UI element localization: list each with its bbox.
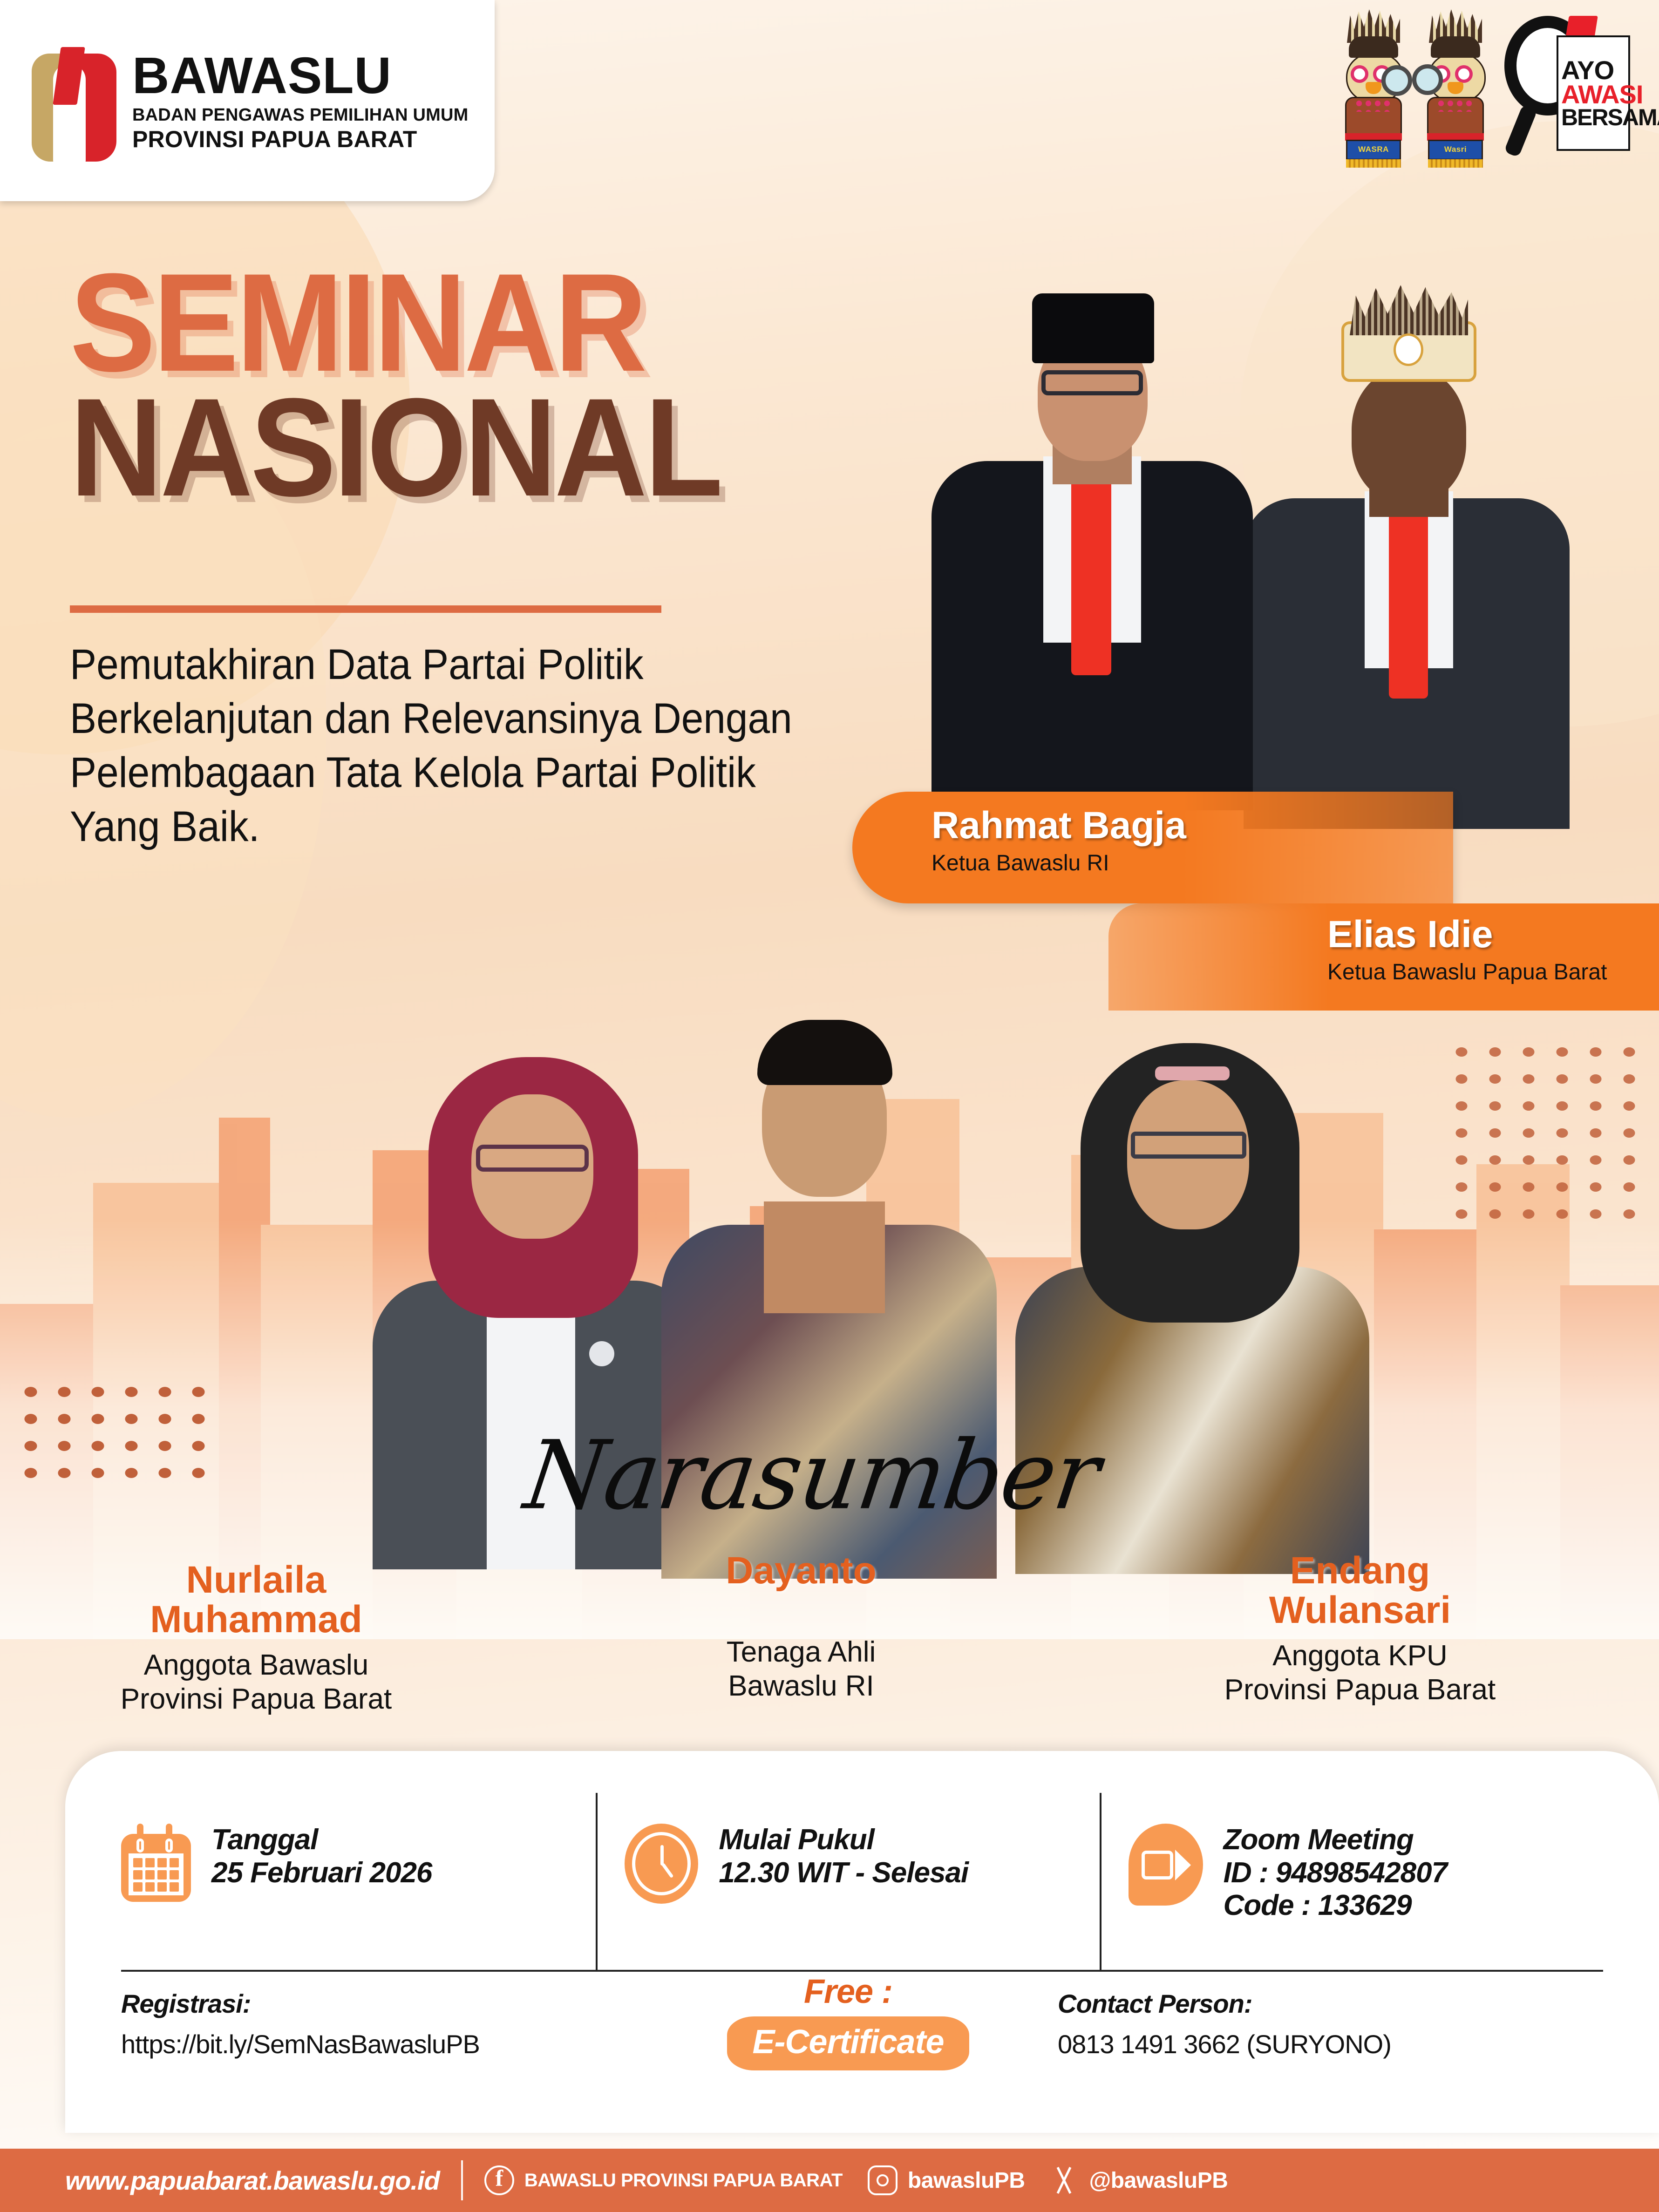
- speaker-2-title-line-2: Provinsi Papua Barat: [1164, 1673, 1556, 1707]
- footer-twitter[interactable]: @bawasluPB: [1050, 2166, 1228, 2195]
- info-cell-zoom: Zoom Meeting ID : 94898542807 Code : 133…: [1100, 1793, 1603, 1970]
- photo-rahmat-bagja: [913, 261, 1267, 810]
- campaign-line-3: BERSAMA: [1561, 107, 1625, 128]
- ayo-awasi-bersama-logo: AYO AWASI BERSAMA: [1504, 9, 1630, 158]
- speaker-1-name-line-1: Dayanto: [624, 1551, 978, 1590]
- mascot-bird-wasra-icon: WASRA: [1339, 9, 1408, 168]
- video-camera-icon: [1129, 1824, 1203, 1906]
- caption-endang-wulansari: Endang Wulansari Anggota KPU Provinsi Pa…: [1164, 1551, 1556, 1707]
- footer-instagram-label: bawasluPB: [908, 2168, 1025, 2193]
- mascot-wasra-label: WASRA: [1347, 145, 1400, 154]
- narasumber-heading: Narasumber: [518, 1420, 1105, 1531]
- info-cell-time: Mulai Pukul 12.30 WIT - Selesai: [596, 1793, 1099, 1970]
- campaign-line-2: AWASI: [1561, 82, 1625, 107]
- calendar-icon: [121, 1824, 191, 1902]
- keynote-name-1: Elias Idie: [1327, 916, 1659, 954]
- contact-value[interactable]: 0813 1491 3662 (SURYONO): [1058, 2029, 1603, 2059]
- bawaslu-logo-icon: [29, 38, 116, 163]
- logo-subtitle-2: PROVINSI PAPUA BARAT: [132, 128, 468, 151]
- facebook-icon: [484, 2165, 514, 2195]
- mascot-bird-wasri-icon: Wasri: [1421, 9, 1490, 168]
- free-certificate-block: Free : E-Certificate: [666, 1973, 1030, 2070]
- badge-rahmat-bagja: Rahmat Bagja Ketua Bawaslu RI: [852, 792, 1453, 903]
- speaker-0-name-line-1: Nurlaila: [79, 1560, 433, 1600]
- badge-elias-idie: Elias Idie Ketua Bawaslu Papua Barat: [1108, 903, 1659, 1011]
- footer-divider: [461, 2160, 463, 2200]
- event-info-card: Tanggal 25 Februari 2026 Mulai Pukul 12.…: [65, 1751, 1659, 2133]
- poster-footer: www.papuabarat.bawaslu.go.id BAWASLU PRO…: [0, 2149, 1659, 2212]
- contact-block: Contact Person: 0813 1491 3662 (SURYONO): [1030, 1988, 1603, 2059]
- clock-icon: [625, 1824, 698, 1904]
- bawaslu-logo-plate: BAWASLU BADAN PENGAWAS PEMILIHAN UMUM PR…: [0, 0, 495, 201]
- date-value: 25 Februari 2026: [211, 1857, 432, 1890]
- caption-dayanto: Dayanto Tenaga Ahli Bawaslu RI: [624, 1551, 978, 1703]
- keynote-title-1: Ketua Bawaslu Papua Barat: [1327, 960, 1659, 985]
- caption-nurlaila-muhammad: Nurlaila Muhammad Anggota Bawaslu Provin…: [79, 1560, 433, 1716]
- speaker-2-name-line-1: Endang: [1164, 1551, 1556, 1590]
- registration-label: Registrasi:: [121, 1988, 666, 2019]
- zoom-label: Zoom Meeting: [1224, 1824, 1447, 1857]
- e-certificate-badge: E-Certificate: [727, 2016, 969, 2070]
- registration-link[interactable]: https://bit.ly/SemNasBawasluPB: [121, 2029, 666, 2059]
- instagram-icon: [868, 2165, 897, 2195]
- zoom-id: ID : 94898542807: [1224, 1857, 1447, 1890]
- headline-line-1: SEMINAR: [70, 261, 721, 384]
- footer-facebook[interactable]: BAWASLU PROVINSI PAPUA BARAT: [484, 2165, 843, 2195]
- zoom-code: Code : 133629: [1224, 1889, 1447, 1922]
- footer-instagram[interactable]: bawasluPB: [868, 2165, 1025, 2195]
- info-cell-date: Tanggal 25 Februari 2026: [121, 1793, 596, 1970]
- headline-divider: [70, 605, 661, 613]
- campaign-line-1: AYO: [1561, 58, 1625, 82]
- footer-website[interactable]: www.papuabarat.bawaslu.go.id: [0, 2165, 440, 2196]
- speaker-0-title-line-2: Provinsi Papua Barat: [79, 1682, 433, 1716]
- logo-subtitle-1: BADAN PENGAWAS PEMILIHAN UMUM: [132, 106, 468, 124]
- keynote-name-0: Rahmat Bagja: [931, 807, 1453, 845]
- poster-headline: SEMINAR NASIONAL: [70, 261, 777, 509]
- date-label: Tanggal: [211, 1824, 432, 1857]
- dot-pattern-left: [14, 1378, 214, 1486]
- mascot-group: WASRA Wasri AYO AWASI BERSAMA: [1339, 9, 1630, 168]
- speaker-2-title-line-1: Anggota KPU: [1164, 1639, 1556, 1673]
- footer-facebook-label: BAWASLU PROVINSI PAPUA BARAT: [524, 2170, 843, 2191]
- seminar-poster: BAWASLU BADAN PENGAWAS PEMILIHAN UMUM PR…: [0, 0, 1659, 2212]
- mascot-wasri-label: Wasri: [1429, 145, 1482, 154]
- x-twitter-icon: [1050, 2166, 1079, 2195]
- speaker-2-name-line-2: Wulansari: [1164, 1590, 1556, 1630]
- footer-twitter-label: @bawasluPB: [1089, 2168, 1228, 2193]
- keynote-title-0: Ketua Bawaslu RI: [931, 851, 1453, 876]
- registration-block: Registrasi: https://bit.ly/SemNasBawaslu…: [121, 1988, 666, 2059]
- time-label: Mulai Pukul: [719, 1824, 968, 1857]
- photo-elias-idie: [1230, 279, 1584, 829]
- headline-subtitle: Pemutakhiran Data Partai Politik Berkela…: [70, 638, 806, 854]
- logo-title: BAWASLU: [132, 50, 468, 102]
- contact-label: Contact Person:: [1058, 1988, 1603, 2019]
- free-label: Free :: [666, 1973, 1030, 2011]
- speaker-1-title-line-2: Bawaslu RI: [624, 1669, 978, 1703]
- speaker-0-name-line-2: Muhammad: [79, 1600, 433, 1639]
- speaker-0-title-line-1: Anggota Bawaslu: [79, 1648, 433, 1682]
- headline-line-2: NASIONAL: [70, 386, 721, 509]
- time-value: 12.30 WIT - Selesai: [719, 1857, 968, 1890]
- dot-pattern-right: [1445, 1038, 1650, 1234]
- speaker-1-title-line-1: Tenaga Ahli: [624, 1635, 978, 1669]
